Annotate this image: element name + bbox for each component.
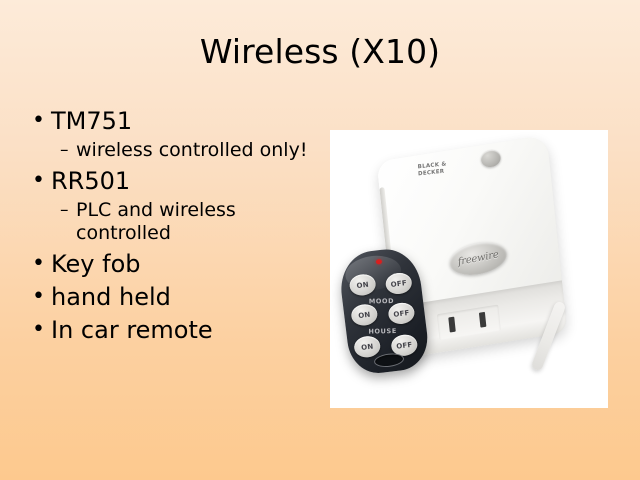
remote-button-off-1: OFF (385, 271, 413, 295)
zone-label-mood: MOOD (369, 297, 394, 305)
dash-marker: – (60, 139, 76, 162)
sub-list-item-label: PLC and wireless controlled (76, 199, 308, 245)
list-item-label: TM751 (51, 106, 322, 136)
remote-button-on-2: ON (350, 303, 378, 327)
sub-list-item-label: wireless controlled only! (76, 139, 308, 162)
list-item-label: Key fob (51, 249, 322, 279)
bullet-marker: • (32, 315, 51, 345)
list-item: • In car remote (32, 315, 322, 345)
bullet-marker: • (32, 282, 51, 312)
bullet-marker: • (32, 106, 51, 136)
product-photo: BLACK & DECKER freewire (330, 130, 608, 408)
keyring-hole (373, 352, 404, 369)
remote-button-on-1: ON (348, 273, 376, 297)
outlet-slot-right (479, 312, 486, 328)
slide: Wireless (X10) • TM751 – wireless contro… (0, 0, 640, 480)
bullet-marker: • (32, 166, 51, 196)
bullet-marker: • (32, 249, 51, 279)
photo-canvas: BLACK & DECKER freewire (330, 130, 608, 408)
bullet-list: • TM751 – wireless controlled only! • RR… (32, 106, 322, 348)
sub-list-item: – wireless controlled only! (60, 139, 322, 162)
remote-button-on-3: ON (353, 335, 381, 359)
led-indicator (376, 259, 383, 265)
page-title: Wireless (X10) (0, 32, 640, 72)
ac-outlet (437, 305, 501, 341)
outlet-slot-left (448, 317, 455, 333)
zone-label-house: HOUSE (368, 327, 397, 335)
list-item-label: hand held (51, 282, 322, 312)
list-item: • Key fob (32, 249, 322, 279)
list-item-label: RR501 (51, 166, 322, 196)
list-item: • RR501 (32, 166, 322, 196)
dash-marker: – (60, 199, 76, 222)
list-item-label: In car remote (51, 315, 322, 345)
sub-list-item: – PLC and wireless controlled (60, 199, 322, 245)
list-item: • TM751 (32, 106, 322, 136)
freewire-badge-label: freewire (457, 249, 499, 268)
list-item: • hand held (32, 282, 322, 312)
